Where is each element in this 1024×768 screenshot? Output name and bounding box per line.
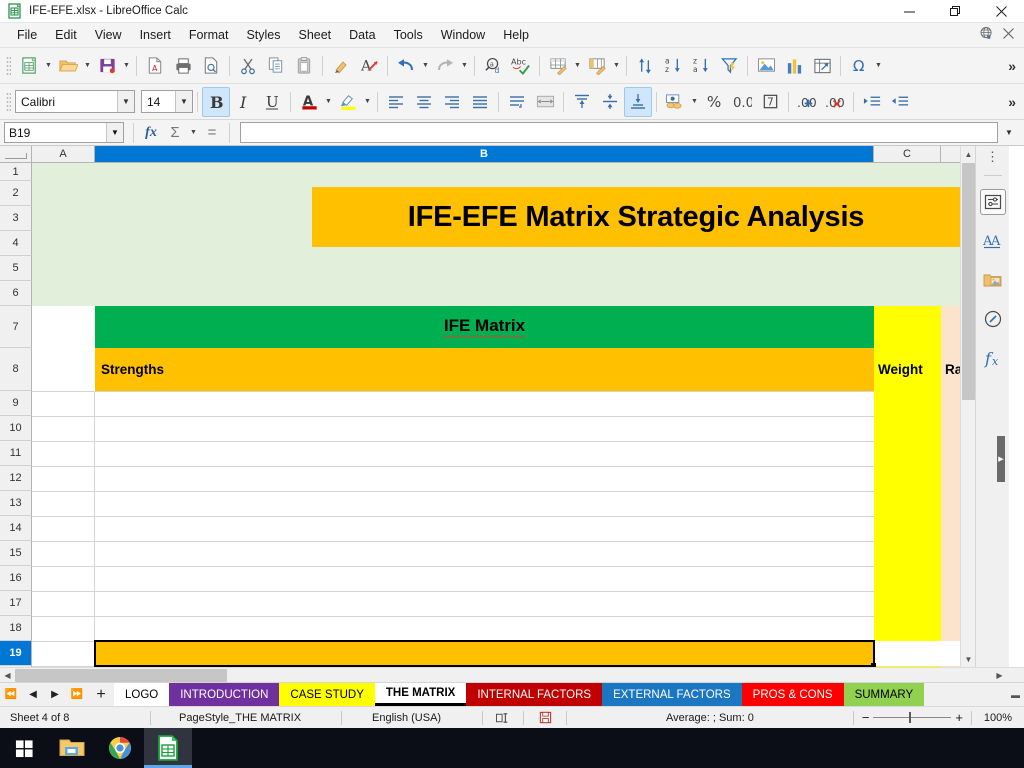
new-document-dropdown[interactable]: ▼: [43, 51, 54, 81]
sheet-tab-case-study[interactable]: CASE STUDY: [279, 683, 375, 706]
align-left-icon[interactable]: [382, 87, 410, 117]
menu-view[interactable]: View: [86, 25, 131, 45]
center-vertically-icon[interactable]: [596, 87, 624, 117]
sidebar-collapse-handle[interactable]: ▶: [997, 436, 1005, 482]
previous-sheet-icon[interactable]: ◀: [22, 683, 44, 706]
file-explorer-icon[interactable]: [48, 728, 96, 768]
strengths-header-cell[interactable]: Strengths: [95, 348, 874, 391]
zoom-track[interactable]: [873, 717, 951, 718]
delete-decimal-icon[interactable]: .00: [821, 87, 849, 117]
insert-chart-icon[interactable]: [780, 51, 808, 81]
row-header-10[interactable]: 10: [0, 416, 32, 441]
name-box[interactable]: B19 ▼: [4, 122, 124, 143]
selection-statistics[interactable]: Average: ; Sum: 0: [567, 707, 853, 729]
menu-sheet[interactable]: Sheet: [289, 25, 340, 45]
pivot-table-icon[interactable]: [808, 51, 836, 81]
font-color-dropdown[interactable]: ▼: [323, 87, 334, 117]
export-pdf-icon[interactable]: A: [141, 51, 169, 81]
row-header-18[interactable]: 18: [0, 616, 32, 641]
sheet-tab-external-factors[interactable]: EXTERNAL FACTORS: [602, 683, 742, 706]
language-status[interactable]: English (USA): [342, 707, 482, 729]
align-bottom-icon[interactable]: [624, 87, 652, 117]
currency-dropdown[interactable]: ▼: [689, 87, 700, 117]
print-preview-icon[interactable]: [197, 51, 225, 81]
svg-text:B: B: [210, 93, 224, 111]
function-wizard-icon[interactable]: fx: [140, 122, 162, 144]
merge-cells-icon[interactable]: [531, 87, 559, 117]
window-controls: [886, 0, 1024, 23]
column-headers: A B C: [0, 146, 975, 163]
row-header-12[interactable]: 12: [0, 466, 32, 491]
selection-mode-icon[interactable]: [483, 707, 523, 729]
maximize-restore-button[interactable]: [932, 0, 978, 23]
row-headers: 1 2 3 4 5 6 7 8 9 10 11 12 13 14 15 16 1…: [0, 163, 32, 667]
underline-icon[interactable]: U: [258, 87, 286, 117]
tab-bar-right-controls: ▬: [1011, 683, 1024, 706]
minimize-button[interactable]: [886, 0, 932, 23]
column-header-c[interactable]: C: [874, 146, 941, 163]
select-all-corner[interactable]: [0, 146, 32, 163]
sidebar: ⋮ A A: [975, 146, 1009, 667]
wrap-text-icon[interactable]: [503, 87, 531, 117]
find-replace-icon[interactable]: a d: [479, 51, 507, 81]
navigator-icon[interactable]: [980, 306, 1006, 332]
next-sheet-icon[interactable]: ▶: [44, 683, 66, 706]
horizontal-scroll-track[interactable]: [15, 668, 992, 683]
windows-taskbar: [0, 728, 1024, 768]
svg-text:.00: .00: [825, 96, 845, 110]
clear-formatting-icon[interactable]: A: [355, 51, 383, 81]
align-justified-icon[interactable]: [466, 87, 494, 117]
align-center-icon[interactable]: [410, 87, 438, 117]
row-header-19[interactable]: 19: [0, 641, 32, 666]
rating-header-cell[interactable]: Ra: [941, 348, 960, 391]
row-header-16[interactable]: 16: [0, 566, 32, 591]
calc-document-icon: [7, 3, 23, 19]
weight-header-cell[interactable]: Weight: [874, 348, 941, 391]
windows-start-icon[interactable]: [0, 728, 48, 768]
number-format-icon[interactable]: 0.0: [728, 87, 756, 117]
svg-text:7: 7: [767, 96, 774, 108]
menu-format[interactable]: Format: [180, 25, 238, 45]
name-box-dropdown-icon[interactable]: ▼: [106, 123, 123, 142]
save-dropdown[interactable]: ▼: [121, 51, 132, 81]
menu-data[interactable]: Data: [340, 25, 384, 45]
decrease-indent-icon[interactable]: [886, 87, 914, 117]
autofilter-icon[interactable]: [715, 51, 743, 81]
menu-edit[interactable]: Edit: [46, 25, 86, 45]
sheet-tab-logo[interactable]: LOGO: [114, 683, 169, 706]
menu-window[interactable]: Window: [432, 25, 494, 45]
sum-dropdown[interactable]: ▼: [188, 118, 199, 148]
sidebar-settings-icon[interactable]: ⋮: [986, 152, 999, 162]
special-character-dropdown[interactable]: ▼: [873, 51, 884, 81]
sheet-count-status: Sheet 4 of 8: [0, 707, 150, 729]
sidebar-divider: [984, 175, 1002, 176]
formatting-toolbar-overflow[interactable]: »: [1008, 94, 1024, 110]
zoom-level-status[interactable]: 100%: [972, 707, 1024, 729]
close-button[interactable]: [978, 0, 1024, 23]
paste-icon[interactable]: [290, 51, 318, 81]
font-name-value: Calibri: [16, 95, 59, 109]
libreoffice-calc-window: IFE-EFE.xlsx - LibreOffice Calc File Edi…: [0, 0, 1024, 768]
clone-formatting-icon[interactable]: [327, 51, 355, 81]
column-dropdown[interactable]: ▼: [611, 51, 622, 81]
font-size-combobox[interactable]: 14 ▼: [141, 90, 193, 113]
name-box-value: B19: [5, 126, 30, 140]
cut-icon[interactable]: [234, 51, 262, 81]
web-globe-icon[interactable]: [979, 26, 994, 44]
selected-cell-b19[interactable]: [95, 641, 874, 666]
svg-text:0.0: 0.0: [733, 96, 752, 111]
svg-text:U: U: [266, 93, 279, 111]
scroll-right-button[interactable]: ▶: [992, 668, 1007, 683]
undo-icon[interactable]: [392, 51, 420, 81]
font-name-combobox[interactable]: Calibri ▼: [15, 90, 135, 113]
svg-text:A: A: [990, 234, 1001, 249]
close-document-icon[interactable]: [1003, 28, 1014, 42]
ife-matrix-header-label: IFE Matrix: [444, 316, 525, 338]
svg-text:a: a: [692, 65, 697, 74]
scroll-down-button[interactable]: ▼: [961, 651, 975, 667]
special-character-icon[interactable]: Ω: [845, 51, 873, 81]
spelling-icon[interactable]: Abc: [507, 51, 535, 81]
row-header-14[interactable]: 14: [0, 516, 32, 541]
sort-icon[interactable]: [631, 51, 659, 81]
row-header-15[interactable]: 15: [0, 541, 32, 566]
tab-bar-scroll-icon[interactable]: ▬: [1011, 690, 1020, 700]
row-header-1[interactable]: 1: [0, 163, 32, 181]
menu-tools[interactable]: Tools: [385, 25, 432, 45]
rating-entry-region[interactable]: [941, 391, 960, 641]
cell-canvas: IFE-EFE Matrix Strategic Analysis IFE Ma…: [32, 163, 975, 667]
horizontal-scroll-thumb[interactable]: [15, 669, 227, 682]
svg-text:A: A: [360, 58, 372, 74]
row-header-20[interactable]: 20: [0, 666, 32, 667]
insert-image-icon[interactable]: [752, 51, 780, 81]
title-banner-cell[interactable]: IFE-EFE Matrix Strategic Analysis: [312, 187, 960, 247]
zoom-out-button[interactable]: −: [862, 710, 870, 725]
column-icon[interactable]: [583, 51, 611, 81]
row-dropdown[interactable]: ▼: [572, 51, 583, 81]
menu-styles[interactable]: Styles: [237, 25, 289, 45]
formula-bar: B19 ▼ fx Σ ▼ = ▼: [0, 120, 1024, 146]
percent-icon[interactable]: %: [700, 87, 728, 117]
page-style-status[interactable]: PageStyle_THE MATRIX: [151, 707, 341, 729]
standard-toolbar: ▼ ▼ ▼ A: [0, 48, 1024, 84]
currency-icon[interactable]: [661, 87, 689, 117]
copy-icon[interactable]: [262, 51, 290, 81]
add-decimal-icon[interactable]: .00: [793, 87, 821, 117]
row-header-7[interactable]: 7: [0, 306, 32, 348]
cell-c19[interactable]: [874, 641, 960, 666]
sheet-tab-pros-and-cons[interactable]: PROS & CONS: [742, 683, 844, 706]
menu-file[interactable]: File: [8, 25, 46, 45]
spreadsheet-area: A B C 1 2 3 4 5 6 7 8 9 10 11 12 13 14: [0, 146, 1024, 667]
row-header-17[interactable]: 17: [0, 591, 32, 616]
formatting-toolbar: Calibri ▼ 14 ▼ B I U A ▼: [0, 84, 1024, 120]
new-document-icon[interactable]: [15, 51, 43, 81]
row-header-8[interactable]: 8: [0, 348, 32, 391]
open-file-icon[interactable]: [54, 51, 82, 81]
sum-icon[interactable]: Σ: [164, 122, 186, 144]
title-bar: IFE-EFE.xlsx - LibreOffice Calc: [0, 0, 1024, 23]
svg-text:a: a: [489, 60, 493, 68]
rating-header-top-cell[interactable]: [941, 306, 960, 348]
sheet-tab-summary[interactable]: SUMMARY: [844, 683, 925, 706]
print-icon[interactable]: [169, 51, 197, 81]
sheet-tab-introduction[interactable]: INTRODUCTION: [169, 683, 279, 706]
menu-bar: File Edit View Insert Format Styles Shee…: [0, 23, 1024, 48]
sheet-tab-the-matrix[interactable]: THE MATRIX: [375, 683, 466, 706]
redo-icon[interactable]: [431, 51, 459, 81]
vertical-scroll-thumb[interactable]: [962, 163, 975, 400]
horizontal-scrollbar[interactable]: ◀ ▶: [0, 667, 1024, 682]
ife-matrix-header-cell[interactable]: IFE Matrix: [95, 306, 874, 348]
sheet-tab-internal-factors[interactable]: INTERNAL FACTORS: [466, 683, 602, 706]
fill-handle[interactable]: [871, 663, 876, 667]
redo-dropdown[interactable]: ▼: [459, 51, 470, 81]
unsaved-changes-icon[interactable]: [524, 707, 566, 729]
row-icon[interactable]: [544, 51, 572, 81]
row-header-11[interactable]: 11: [0, 441, 32, 466]
menu-insert[interactable]: Insert: [131, 25, 180, 45]
zoom-slider[interactable]: − +: [854, 710, 971, 725]
libreoffice-calc-icon[interactable]: [144, 728, 192, 768]
styles-icon[interactable]: A A: [980, 228, 1006, 254]
svg-text:x: x: [992, 355, 999, 368]
date-icon[interactable]: 7: [756, 87, 784, 117]
toolbar-grip[interactable]: [6, 56, 11, 76]
row-header-4[interactable]: 4: [0, 231, 32, 256]
svg-text:Abc: Abc: [511, 58, 526, 67]
zoom-knob[interactable]: [909, 712, 911, 723]
scroll-left-button[interactable]: ◀: [0, 668, 15, 683]
increase-indent-icon[interactable]: [858, 87, 886, 117]
sort-descending-icon[interactable]: z a: [687, 51, 715, 81]
weight-entry-region[interactable]: [874, 391, 941, 641]
svg-text:d: d: [494, 66, 499, 75]
sheet-grid[interactable]: A B C 1 2 3 4 5 6 7 8 9 10 11 12 13 14: [0, 146, 975, 667]
zoom-in-button[interactable]: +: [955, 710, 963, 725]
formatting-toolbar-grip[interactable]: [6, 92, 11, 112]
row-header-3[interactable]: 3: [0, 206, 32, 231]
italic-icon[interactable]: I: [230, 87, 258, 117]
row-header-5[interactable]: 5: [0, 256, 32, 281]
menu-help[interactable]: Help: [494, 25, 538, 45]
font-size-value: 14: [142, 95, 164, 109]
row-header-6[interactable]: 6: [0, 281, 32, 306]
column-header-b[interactable]: B: [95, 146, 874, 163]
bold-icon[interactable]: B: [202, 87, 230, 117]
properties-icon[interactable]: [980, 189, 1006, 215]
font-size-dropdown-icon[interactable]: ▼: [175, 91, 192, 112]
last-sheet-icon[interactable]: ⏩: [66, 683, 88, 706]
open-file-dropdown[interactable]: ▼: [82, 51, 93, 81]
highlight-color-dropdown[interactable]: ▼: [362, 87, 373, 117]
formula-equals-icon[interactable]: =: [201, 122, 223, 144]
font-color-icon[interactable]: A: [295, 87, 323, 117]
first-sheet-icon[interactable]: ⏪: [0, 683, 22, 706]
functions-icon[interactable]: f x: [980, 345, 1006, 371]
window-title: IFE-EFE.xlsx - LibreOffice Calc: [29, 5, 188, 17]
formula-bar-expand-icon[interactable]: ▼: [998, 128, 1020, 137]
align-right-icon[interactable]: [438, 87, 466, 117]
vertical-scrollbar[interactable]: ▲ ▼: [960, 146, 975, 667]
save-icon[interactable]: [93, 51, 121, 81]
row-header-9[interactable]: 9: [0, 391, 32, 416]
svg-text:A: A: [152, 64, 158, 73]
svg-text:Ω: Ω: [852, 57, 864, 75]
gallery-icon[interactable]: [980, 267, 1006, 293]
svg-text:%: %: [706, 93, 720, 111]
weight-header-top-cell[interactable]: [874, 306, 941, 348]
scroll-up-button[interactable]: ▲: [961, 146, 975, 162]
status-bar: Sheet 4 of 8 PageStyle_THE MATRIX Englis…: [0, 706, 1024, 728]
row-header-13[interactable]: 13: [0, 491, 32, 516]
standard-toolbar-overflow[interactable]: »: [1008, 58, 1024, 74]
highlight-color-icon[interactable]: [334, 87, 362, 117]
align-top-icon[interactable]: [568, 87, 596, 117]
add-sheet-button[interactable]: +: [88, 683, 114, 706]
sort-ascending-icon[interactable]: a z: [659, 51, 687, 81]
font-name-dropdown-icon[interactable]: ▼: [117, 91, 134, 112]
formula-input[interactable]: [240, 122, 998, 143]
sheet-tab-bar: ⏪ ◀ ▶ ⏩ + LOGO INTRODUCTION CASE STUDY T…: [0, 682, 1024, 706]
undo-dropdown[interactable]: ▼: [420, 51, 431, 81]
svg-text:z: z: [664, 65, 668, 74]
column-header-a[interactable]: A: [32, 146, 95, 163]
row-header-2[interactable]: 2: [0, 181, 32, 206]
svg-text:I: I: [239, 93, 247, 111]
chrome-icon[interactable]: [96, 728, 144, 768]
